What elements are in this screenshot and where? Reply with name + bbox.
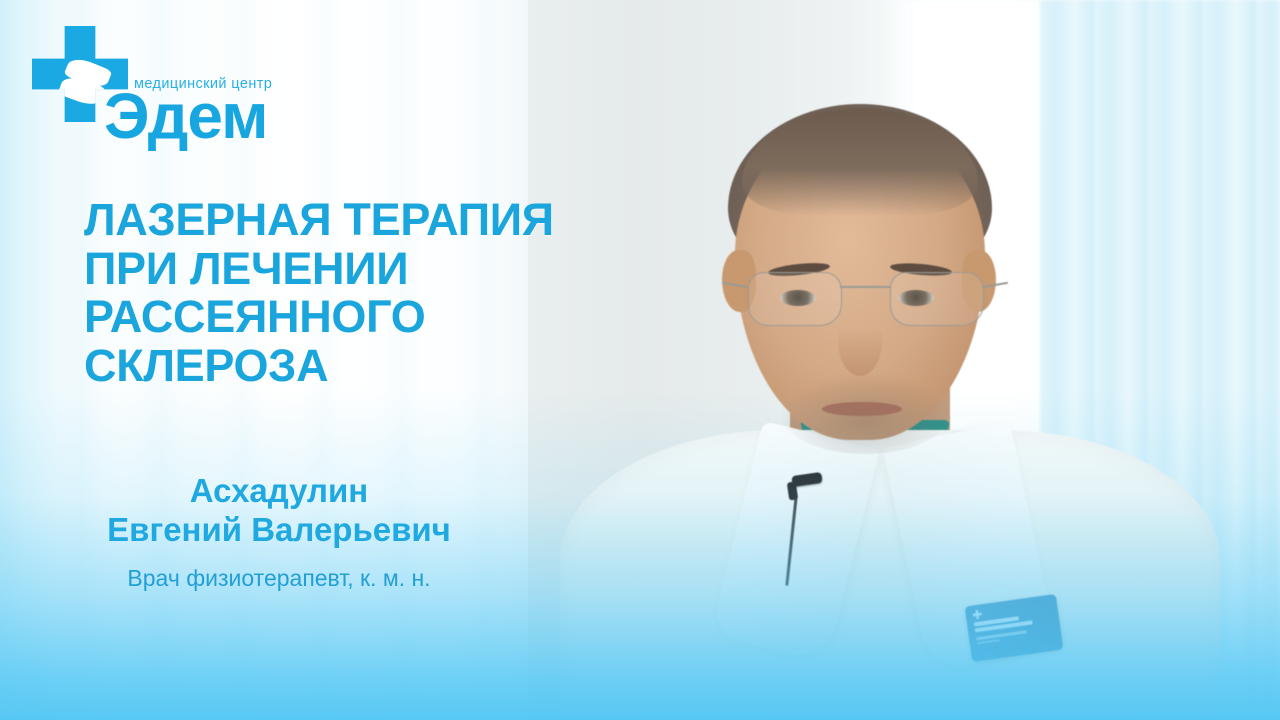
hair-top <box>742 108 978 216</box>
video-frame: медицинский центр Эдем ЛАЗЕРНАЯ ТЕРАПИЯ … <box>0 0 1280 720</box>
nose <box>838 306 882 376</box>
page-title: ЛАЗЕРНАЯ ТЕРАПИЯ ПРИ ЛЕЧЕНИИ РАССЕЯННОГО… <box>84 196 554 390</box>
mouth <box>822 402 902 416</box>
badge-text-line <box>976 630 1027 640</box>
glasses-lens-right <box>890 272 984 326</box>
badge-cross-icon <box>972 609 982 619</box>
clinic-logo[interactable]: медицинский центр Эдем <box>26 22 276 142</box>
speaker-name: Асхадулин Евгений Валерьевич <box>84 472 474 550</box>
badge-text-line <box>977 639 1001 645</box>
logo-wordmark: Эдем <box>104 84 267 148</box>
speaker-role: Врач физиотерапевт, к. м. н. <box>84 565 474 593</box>
glasses-lens-left <box>748 272 842 326</box>
glasses-bridge <box>840 286 890 288</box>
